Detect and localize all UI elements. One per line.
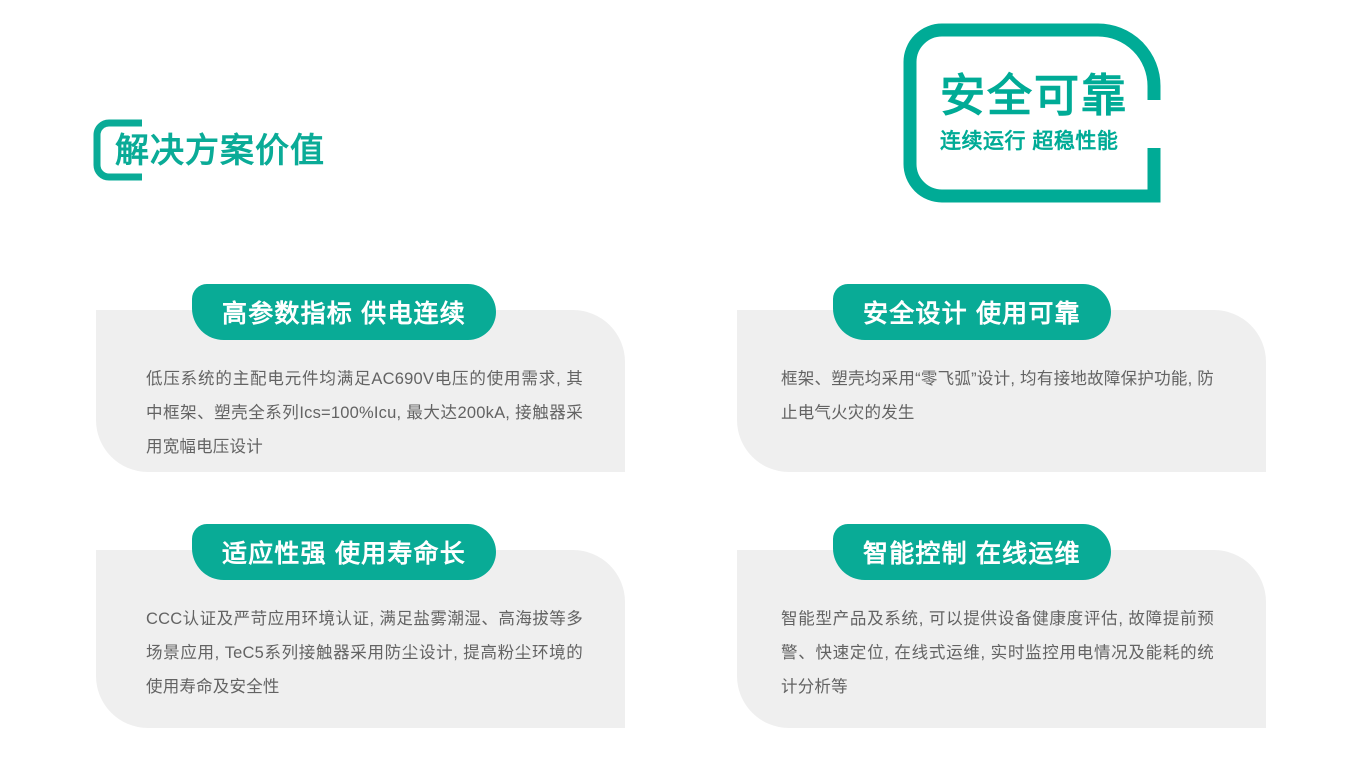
feature-card-body: 框架、塑壳均采用“零飞弧”设计, 均有接地故障保护功能, 防止电气火灾的发生 [781, 362, 1214, 430]
feature-card: 智能控制 在线运维 智能型产品及系统, 可以提供设备健康度评估, 故障提前预警、… [737, 550, 1266, 728]
feature-card-heading: 适应性强 使用寿命长 [222, 534, 466, 570]
feature-card-heading-pill: 安全设计 使用可靠 [833, 284, 1111, 340]
feature-card-heading: 智能控制 在线运维 [863, 534, 1081, 570]
feature-card-heading-pill: 适应性强 使用寿命长 [192, 524, 496, 580]
feature-card: 适应性强 使用寿命长 CCC认证及严苛应用环境认证, 满足盐雾潮湿、高海拔等多场… [96, 550, 625, 728]
feature-card-heading: 高参数指标 供电连续 [222, 294, 466, 330]
slide-canvas: 安全可靠 连续运行 超稳性能 解决方案价值 高参数指标 供电连续 低压系统的主配… [0, 0, 1350, 782]
feature-card: 安全设计 使用可靠 框架、塑壳均采用“零飞弧”设计, 均有接地故障保护功能, 防… [737, 310, 1266, 472]
feature-card-heading: 安全设计 使用可靠 [863, 294, 1081, 330]
feature-card-grid: 高参数指标 供电连续 低压系统的主配电元件均满足AC690V电压的使用需求, 其… [0, 0, 1350, 782]
feature-card-body: 低压系统的主配电元件均满足AC690V电压的使用需求, 其中框架、塑壳全系列Ic… [146, 362, 583, 464]
feature-card-body: CCC认证及严苛应用环境认证, 满足盐雾潮湿、高海拔等多场景应用, TeC5系列… [146, 602, 583, 704]
feature-card-body: 智能型产品及系统, 可以提供设备健康度评估, 故障提前预警、快速定位, 在线式运… [781, 602, 1214, 704]
feature-card-heading-pill: 智能控制 在线运维 [833, 524, 1111, 580]
feature-card: 高参数指标 供电连续 低压系统的主配电元件均满足AC690V电压的使用需求, 其… [96, 310, 625, 472]
feature-card-heading-pill: 高参数指标 供电连续 [192, 284, 496, 340]
